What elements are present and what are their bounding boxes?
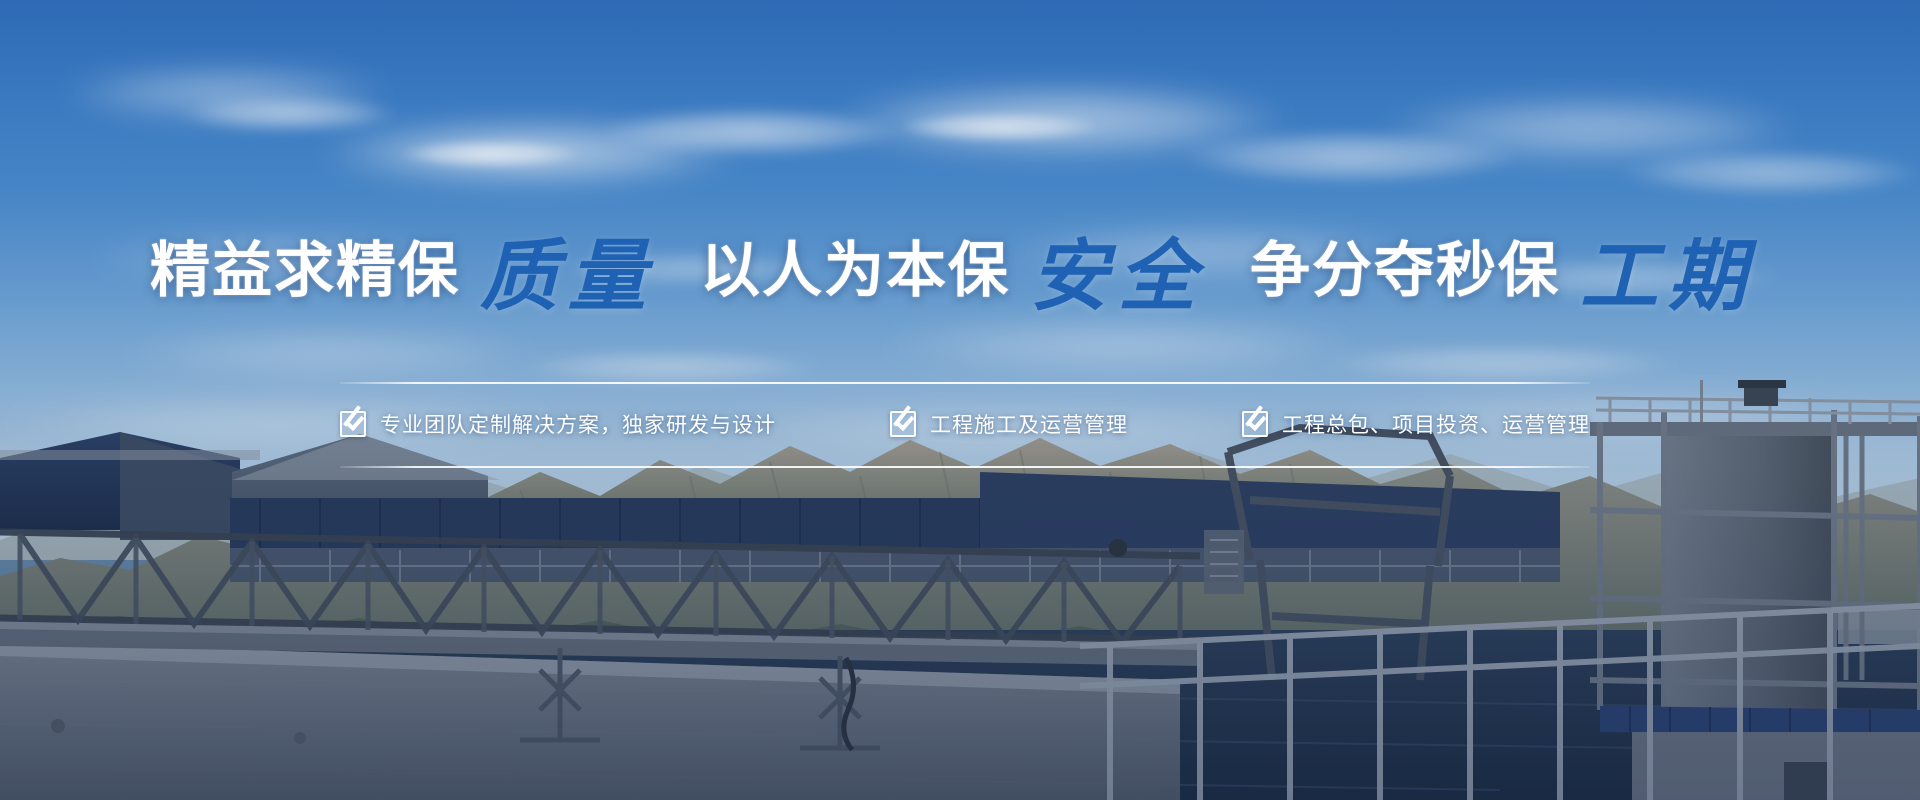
feature-label-2: 工程施工及运营管理: [930, 409, 1128, 439]
banner-content: 精益求精保质量以人为本保安全争分夺秒保工期 专业团队定制解决方案，独家研发与设计…: [0, 0, 1920, 800]
headline-segment-5: 争分夺秒保: [1250, 236, 1560, 306]
headline-segment-3: 以人为本保: [700, 236, 1010, 306]
feature-item-1: 专业团队定制解决方案，独家研发与设计: [340, 409, 776, 439]
divider-top: [340, 382, 1590, 384]
headline-segment-6-calligraphy: 工期: [1580, 231, 1756, 322]
feature-label-1: 专业团队定制解决方案，独家研发与设计: [380, 409, 776, 439]
checkbox-checked-icon: [1242, 411, 1268, 437]
feature-list: 专业团队定制解决方案，独家研发与设计 工程施工及运营管理 工程总包、项目投资、运…: [340, 396, 1590, 452]
checkbox-checked-icon: [340, 411, 366, 437]
headline-segment-1: 精益求精保: [150, 236, 460, 306]
hero-banner: 精益求精保质量以人为本保安全争分夺秒保工期 专业团队定制解决方案，独家研发与设计…: [0, 0, 1920, 800]
headline: 精益求精保质量以人为本保安全争分夺秒保工期: [0, 232, 1920, 310]
checkbox-checked-icon: [890, 411, 916, 437]
divider-bottom: [340, 466, 1590, 468]
feature-item-3: 工程总包、项目投资、运营管理: [1242, 409, 1590, 439]
feature-label-3: 工程总包、项目投资、运营管理: [1282, 409, 1590, 439]
headline-segment-4-calligraphy: 安全: [1030, 231, 1206, 322]
feature-item-2: 工程施工及运营管理: [890, 409, 1128, 439]
headline-segment-2-calligraphy: 质量: [480, 231, 656, 322]
